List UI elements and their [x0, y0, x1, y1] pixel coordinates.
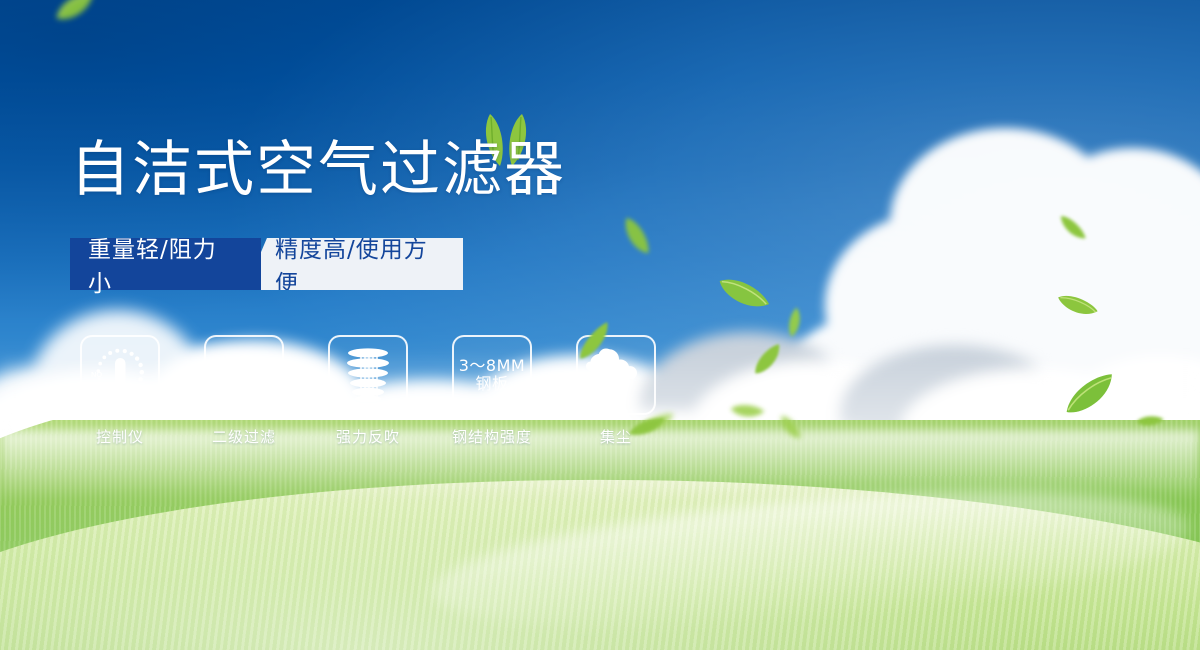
product-banner: 自洁式空气过滤器 重量轻/阻力小 精度高/使用方便 — [0, 0, 1200, 650]
feature-item-secondary-filtration[interactable]: 0.6～0.8 MPA 二级过滤 — [194, 335, 294, 447]
feature-icon-box — [328, 335, 408, 415]
banner-content: 自洁式空气过滤器 重量轻/阻力小 精度高/使用方便 — [0, 0, 1200, 650]
feature-icon-text-line2: 钢板 — [475, 375, 508, 393]
feature-icon-text-line2: MPA — [227, 375, 262, 393]
gauge-dial-icon: NO OFF — [87, 345, 153, 405]
subtitle-right: 精度高/使用方便 — [245, 238, 463, 290]
feature-label: 钢结构强度 — [452, 426, 532, 447]
page-title: 自洁式空气过滤器 — [70, 140, 566, 200]
feature-icon-text-line1: 3～8MM — [459, 357, 525, 375]
feature-icon-text-line1: 0.6～0.8 — [209, 357, 279, 375]
feature-item-steel-strength[interactable]: 3～8MM 钢板 钢结构强度 — [442, 335, 542, 447]
subtitle-left: 重量轻/阻力小 — [70, 238, 261, 290]
dial-on-label: NO — [91, 370, 102, 379]
filter-stack-icon — [339, 345, 397, 405]
feature-label: 二级过滤 — [212, 426, 276, 447]
feature-icon-box: 3～8MM 钢板 — [452, 335, 532, 415]
feature-label: 强力反吹 — [336, 426, 400, 447]
feature-item-strong-blowback[interactable]: 强力反吹 — [318, 335, 418, 447]
dial-off-label: OFF — [127, 392, 142, 401]
subtitle-bar: 重量轻/阻力小 精度高/使用方便 — [70, 238, 463, 290]
feature-icon-text-line1: Air — [606, 388, 625, 403]
feature-icon-box: NO OFF — [80, 335, 160, 415]
feature-label: 控制仪 — [96, 426, 144, 447]
feature-icon-box: 0.6～0.8 MPA — [204, 335, 284, 415]
feature-item-control-instrument[interactable]: NO OFF 控制仪 — [70, 335, 170, 447]
